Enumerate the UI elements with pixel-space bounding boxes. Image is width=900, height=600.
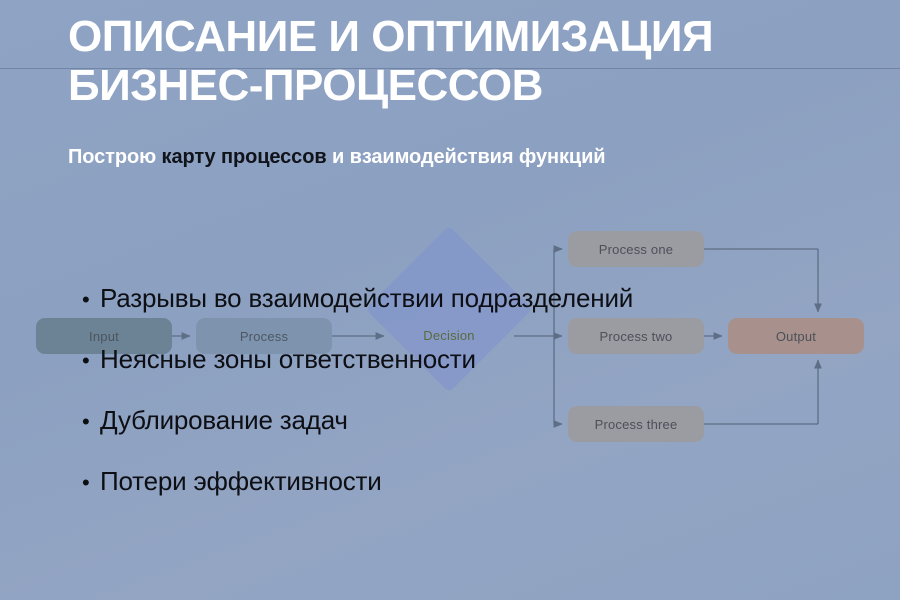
bullet-dot-icon: •	[82, 350, 100, 372]
list-item-label: Дублирование задач	[100, 405, 872, 436]
list-item-label: Потери эффективности	[100, 466, 872, 497]
list-item-label: Неясные зоны ответственности	[100, 344, 872, 375]
list-item: • Разрывы во взаимодействии подразделени…	[82, 283, 872, 314]
page-title-line-1: ОПИСАНИЕ И ОПТИМИЗАЦИЯ	[68, 12, 868, 61]
flow-node-process-one: Process one	[568, 231, 704, 267]
subtitle-emphasis: карту процессов	[162, 146, 327, 168]
slide-canvas: Input Process Decision Process one Proce…	[0, 0, 900, 600]
bullet-dot-icon: •	[82, 472, 100, 494]
bullet-dot-icon: •	[82, 411, 100, 433]
page-subtitle: Построю карту процессов и взаимодействия…	[68, 146, 868, 169]
list-item-label: Разрывы во взаимодействии подразделений	[100, 283, 872, 314]
page-title-line-2: БИЗНЕС-ПРОЦЕССОВ	[68, 61, 868, 110]
bullet-dot-icon: •	[82, 289, 100, 311]
page-title: ОПИСАНИЕ И ОПТИМИЗАЦИЯ БИЗНЕС-ПРОЦЕССОВ	[68, 12, 868, 111]
benefits-list: • Разрывы во взаимодействии подразделени…	[82, 283, 872, 497]
subtitle-lead: Построю	[68, 146, 162, 168]
list-item: • Дублирование задач	[82, 405, 872, 436]
subtitle-tail: и взаимодействия функций	[327, 146, 606, 168]
list-item: • Потери эффективности	[82, 466, 872, 497]
list-item: • Неясные зоны ответственности	[82, 344, 872, 375]
